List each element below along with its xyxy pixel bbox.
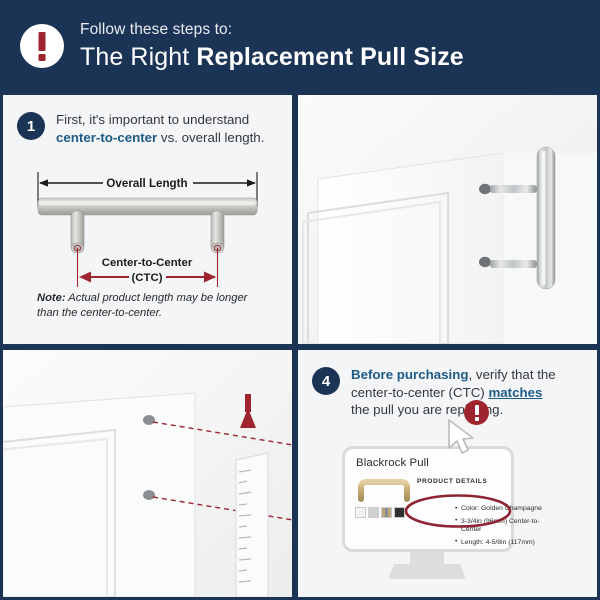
detail-length: Length: 4-5/8in (117mm) [455,539,553,548]
step-1-header: 1 First, it's important to understand ce… [3,95,292,146]
steps-grid: 1 First, it's important to understand ce… [0,92,600,600]
red-ellipse-annotation [403,493,513,529]
header-kicker: Follow these steps to: [80,21,464,39]
infographic-page: Follow these steps to: The Right Replace… [0,0,600,600]
cabinet-door-photo [298,95,597,344]
header-text: Follow these steps to: The Right Replace… [80,21,464,72]
ctc-label-line1: Center-to-Center [102,257,193,269]
monitor-neck [410,552,444,566]
step-panel-1: 1 First, it's important to understand ce… [3,95,292,344]
product-page-illustration: Blackrock Pull [298,350,597,597]
step-panel-3: 3 Measure the distance between the cente… [3,350,292,597]
title-bold: Replacement Pull Size [196,43,463,71]
monitor-base [388,564,466,579]
mouse-pointer-icon [446,418,478,458]
title-light: The Right [80,43,196,71]
step-panel-2: 2 If you are replacing a pull, start by … [298,95,597,344]
product-details-heading: PRODUCT DETAILS [417,478,487,485]
exclamation-circle-icon [20,24,64,68]
step-number-1: 1 [17,112,45,140]
ctc-label-line2: (CTC) [132,272,163,284]
header-bar: Follow these steps to: The Right Replace… [0,0,600,92]
swatch-2[interactable] [368,507,379,518]
step-1-text: First, it's important to understand cent… [56,111,278,146]
monitor-screen: Blackrock Pull [342,446,514,552]
step-1-text-a: First, it's important to understand [56,112,249,127]
step-panel-4: 4 Before purchasing, verify that the cen… [298,350,597,597]
ruler-measure-illustration [3,350,292,597]
swatch-3[interactable] [381,507,392,518]
note-label: Note: [37,292,66,304]
color-swatch-thumbnails[interactable] [355,507,405,518]
page-title: The Right Replacement Pull Size [80,42,464,72]
product-title: Blackrock Pull [356,457,429,469]
step-1-note: Note: Actual product length may be longe… [37,291,272,321]
overall-length-label: Overall Length [106,177,187,190]
step-1-text-c: vs. overall length. [157,130,264,145]
step-1-text-b: center-to-center [56,130,157,145]
pull-dimension-diagram: Overall Length Center-to-Center [3,165,292,295]
swatch-1[interactable] [355,507,366,518]
note-text: Actual product length may be longer than… [37,292,247,319]
